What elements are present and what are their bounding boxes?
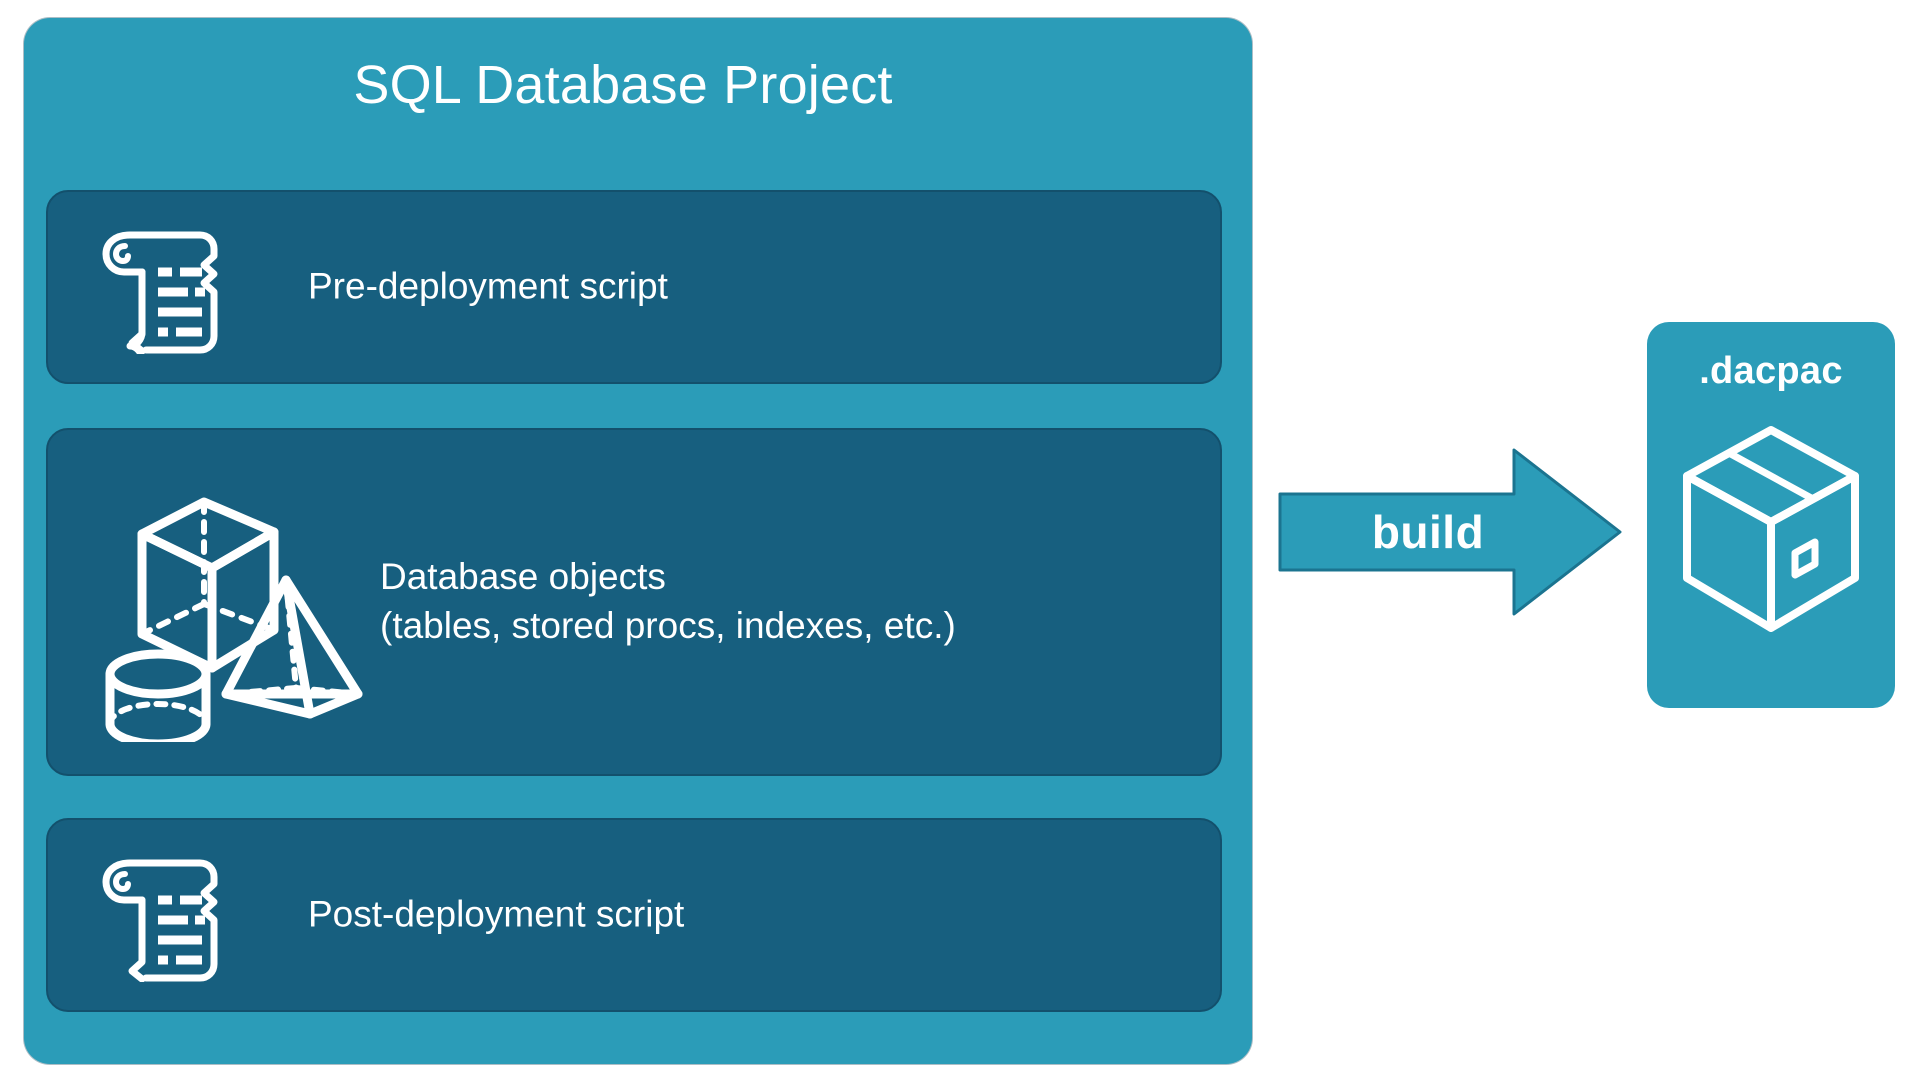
pre-deployment-script-label: Pre-deployment script <box>308 263 668 312</box>
page-title: SQL Database Project <box>9 54 1237 116</box>
database-objects-box[interactable]: Database objects (tables, stored procs, … <box>46 428 1222 776</box>
dacpac-output-card[interactable]: .dacpac <box>1647 322 1895 708</box>
post-deployment-script-box[interactable]: Post-deployment script <box>46 818 1222 1012</box>
package-box-icon <box>1675 418 1867 654</box>
post-deployment-script-label: Post-deployment script <box>308 891 684 940</box>
diagram-canvas: SQL Database Project <box>0 0 1920 1080</box>
right-arrow-icon <box>1278 446 1622 618</box>
database-objects-label: Database objects (tables, stored procs, … <box>380 553 956 651</box>
dacpac-label: .dacpac <box>1647 350 1895 393</box>
3d-shapes-icon <box>100 462 370 742</box>
pre-deployment-script-box[interactable]: Pre-deployment script <box>46 190 1222 384</box>
scroll-icon <box>96 220 228 354</box>
scroll-icon <box>96 848 228 982</box>
sql-database-project-card: SQL Database Project <box>24 18 1252 1064</box>
